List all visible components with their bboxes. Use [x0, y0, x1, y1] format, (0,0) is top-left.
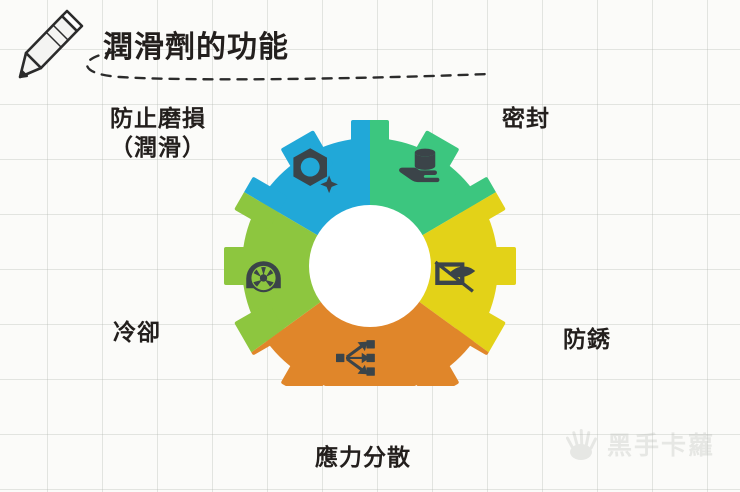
wheel-center-hub [309, 205, 431, 327]
label-wear-line1: 防止磨損 [110, 104, 206, 133]
label-rust: 防銹 [563, 325, 611, 354]
label-cool-line1: 冷卻 [113, 318, 161, 347]
label-cool: 冷卻 [113, 318, 161, 347]
watermark-text: 黑手卡蘿 [607, 426, 715, 462]
label-rust-line1: 防銹 [563, 325, 611, 354]
watermark: 黑手卡蘿 [566, 426, 715, 462]
label-seal-line1: 密封 [502, 104, 550, 133]
page-title: 潤滑劑的功能 [103, 22, 289, 66]
hand-print-icon [566, 426, 600, 462]
gear-wheel-diagram [190, 86, 550, 446]
label-wear-line2: （潤滑） [110, 133, 206, 162]
label-stress: 應力分散 [315, 443, 411, 472]
label-stress-line1: 應力分散 [315, 443, 411, 472]
label-wear: 防止磨損 （潤滑） [110, 104, 206, 163]
page-canvas: 潤滑劑的功能 [0, 0, 740, 492]
label-seal: 密封 [502, 104, 550, 133]
